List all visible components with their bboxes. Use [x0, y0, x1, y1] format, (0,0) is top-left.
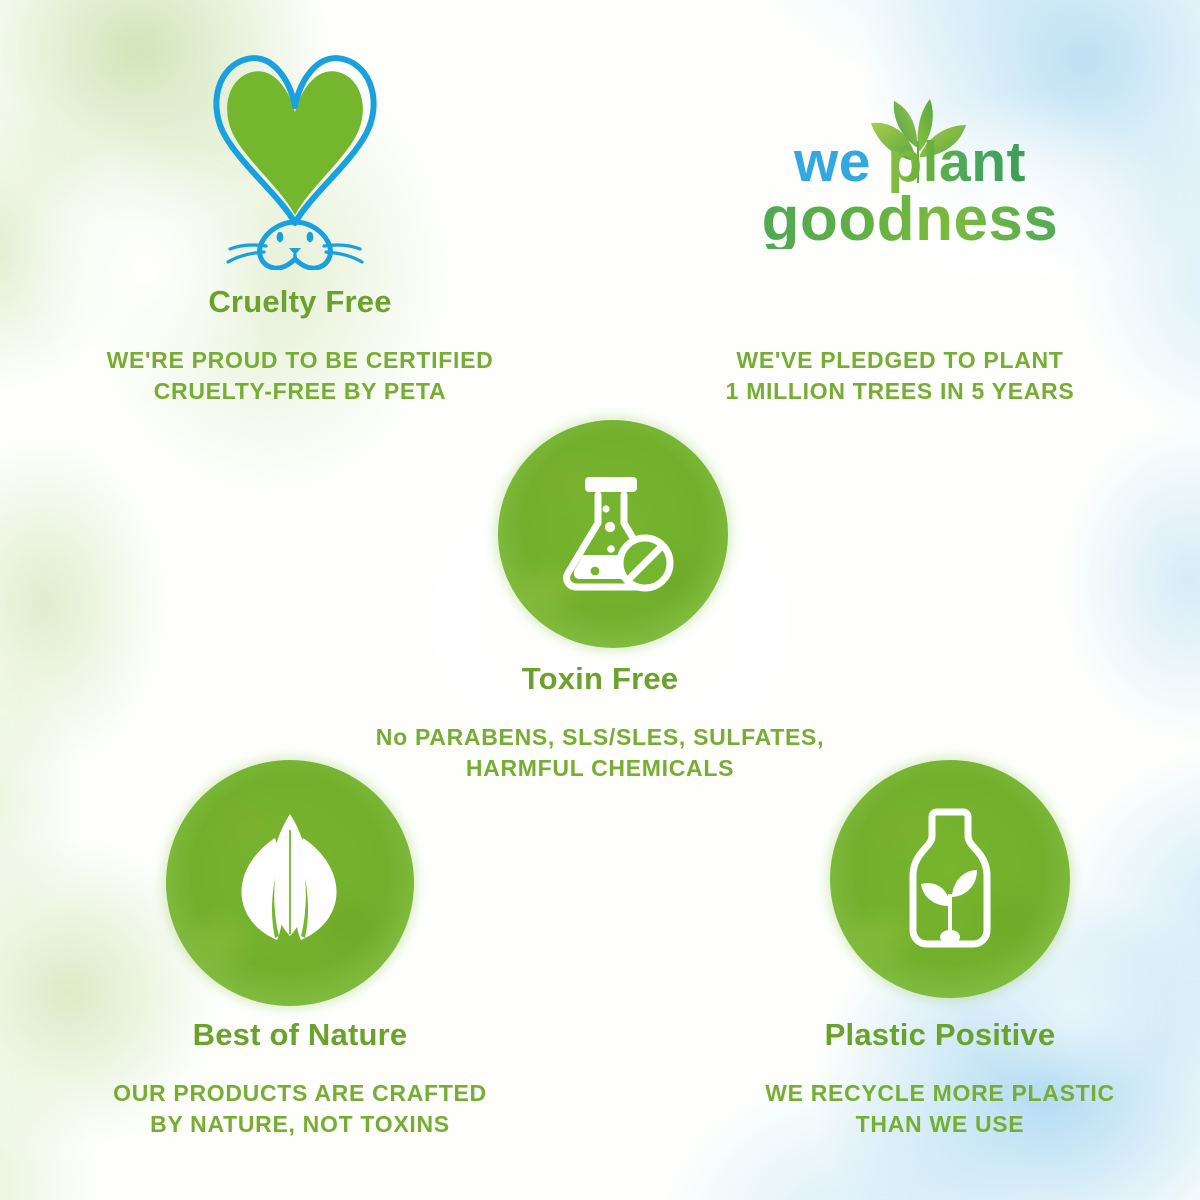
- bunny-heart-icon: [190, 40, 400, 270]
- desc-line-2: HARMFUL CHEMICALS: [466, 755, 734, 781]
- feature-title-toxin-free: Toxin Free: [300, 662, 900, 696]
- desc-line-1: OUR PRODUCTS ARE CRAFTED: [113, 1080, 487, 1106]
- desc-line-2: 1 MILLION TREES IN 5 YEARS: [726, 378, 1075, 404]
- bottle-sprout-icon: [885, 804, 1015, 954]
- desc-line-2: CRUELTY-FREE BY PETA: [154, 378, 447, 404]
- badge-toxin-free: [498, 420, 728, 648]
- leaves-icon: [215, 808, 365, 958]
- feature-description-cruelty-free: WE'RE PROUD TO BE CERTIFIED CRUELTY-FREE…: [0, 345, 600, 406]
- feature-title-cruelty-free: Cruelty Free: [0, 285, 600, 319]
- feature-title-plastic-positive: Plastic Positive: [640, 1018, 1200, 1052]
- desc-line-1: WE RECYCLE MORE PLASTIC: [765, 1080, 1115, 1106]
- feature-description-toxin-free: No PARABENS, SLS/SLES, SULFATES, HARMFUL…: [260, 722, 940, 783]
- logo-word-goodness: goodness: [740, 190, 1080, 250]
- feature-description-best-of-nature: OUR PRODUCTS ARE CRAFTED BY NATURE, NOT …: [0, 1078, 600, 1139]
- desc-line-1: PARABENS, SLS/SLES, SULFATES,: [415, 724, 824, 750]
- desc-line-2: THAN WE USE: [856, 1111, 1025, 1137]
- infographic-canvas: Cruelty Free WE'RE PROUD TO BE CERTIFIED…: [0, 0, 1200, 1200]
- desc-line-2: BY NATURE, NOT TOXINS: [150, 1111, 450, 1137]
- desc-line-1: WE'RE PROUD TO BE CERTIFIED: [107, 347, 494, 373]
- badge-best-of-nature: [166, 760, 414, 1006]
- flask-no-toxins-icon: [548, 469, 678, 599]
- feature-title-best-of-nature: Best of Nature: [0, 1018, 600, 1052]
- badge-plastic-positive: [830, 760, 1070, 998]
- feature-description-we-plant-goodness: WE'VE PLEDGED TO PLANT 1 MILLION TREES I…: [600, 345, 1200, 406]
- logo-text: we plant goodness: [740, 135, 1080, 249]
- desc-line-1: WE'VE PLEDGED TO PLANT: [736, 347, 1063, 373]
- logo-line-1: we plant: [740, 135, 1080, 190]
- feature-description-plastic-positive: WE RECYCLE MORE PLASTIC THAN WE USE: [640, 1078, 1200, 1139]
- desc-prefix: No: [376, 724, 408, 750]
- we-plant-goodness-logo: we plant goodness: [740, 135, 1080, 295]
